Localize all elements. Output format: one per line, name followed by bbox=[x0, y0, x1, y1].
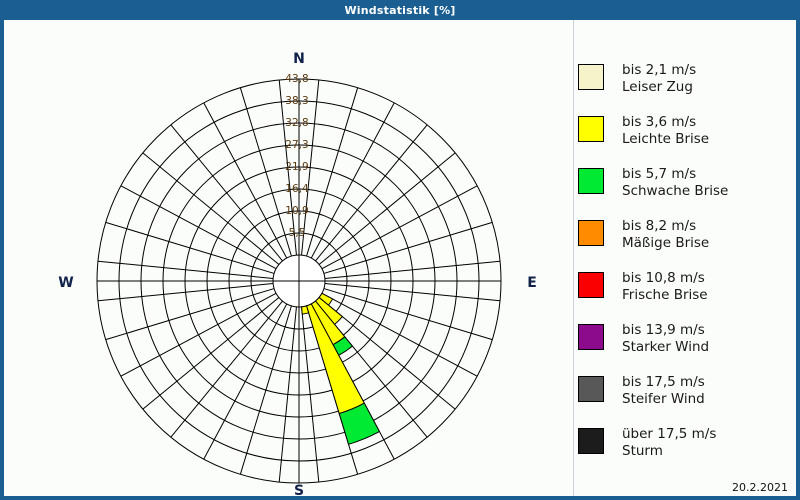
legend-label: bis 17,5 m/sSteifer Wind bbox=[622, 374, 705, 408]
legend-color-swatch bbox=[578, 168, 604, 194]
legend-item: bis 8,2 m/sMäßige Brise bbox=[578, 218, 709, 252]
compass-label-east: E bbox=[527, 275, 537, 291]
legend-speed-range: bis 3,6 m/s bbox=[622, 114, 696, 130]
windstatistik-window: Windstatistik [%] 5,510,916,421,927,332,… bbox=[0, 0, 800, 500]
legend-beaufort-name: Mäßige Brise bbox=[622, 235, 709, 252]
radial-tick-label: 10,9 bbox=[285, 205, 308, 217]
legend-label: bis 5,7 m/sSchwache Brise bbox=[622, 166, 728, 200]
legend-label: bis 8,2 m/sMäßige Brise bbox=[622, 218, 709, 252]
legend-beaufort-name: Steifer Wind bbox=[622, 391, 705, 408]
legend-speed-range: bis 2,1 m/s bbox=[622, 62, 696, 78]
legend-speed-range: über 17,5 m/s bbox=[622, 426, 716, 442]
grid-spoke bbox=[240, 88, 291, 256]
legend-item: bis 13,9 m/sStarker Wind bbox=[578, 322, 709, 356]
legend-label: über 17,5 m/sSturm bbox=[622, 426, 716, 460]
legend-item: bis 17,5 m/sSteifer Wind bbox=[578, 374, 705, 408]
legend-label: bis 13,9 m/sStarker Wind bbox=[622, 322, 709, 356]
legend-speed-range: bis 17,5 m/s bbox=[622, 374, 705, 390]
legend-beaufort-name: Sturm bbox=[622, 443, 716, 460]
legend-label: bis 10,8 m/sFrische Brise bbox=[622, 270, 708, 304]
legend-color-swatch bbox=[578, 116, 604, 142]
compass-label-west: W bbox=[58, 275, 73, 291]
legend-label: bis 3,6 m/sLeichte Brise bbox=[622, 114, 709, 148]
legend-beaufort-name: Schwache Brise bbox=[622, 183, 728, 200]
legend-item: bis 10,8 m/sFrische Brise bbox=[578, 270, 708, 304]
legend-item: bis 2,1 m/sLeiser Zug bbox=[578, 62, 696, 96]
legend-speed-range: bis 10,8 m/s bbox=[622, 270, 705, 286]
windrose-chart: 5,510,916,421,927,332,838,343,8 N S W E bbox=[4, 20, 564, 496]
radial-tick-label: 38,3 bbox=[285, 95, 308, 107]
compass-label-south: S bbox=[294, 483, 304, 496]
legend-color-swatch bbox=[578, 428, 604, 454]
legend-beaufort-name: Leiser Zug bbox=[622, 79, 696, 96]
legend-color-swatch bbox=[578, 64, 604, 90]
legend-beaufort-name: Leichte Brise bbox=[622, 131, 709, 148]
radial-tick-label: 32,8 bbox=[285, 117, 308, 129]
legend-panel: bis 2,1 m/sLeiser Zugbis 3,6 m/sLeichte … bbox=[564, 20, 796, 496]
grid-spoke bbox=[106, 289, 274, 340]
legend-color-swatch bbox=[578, 220, 604, 246]
legend-color-swatch bbox=[578, 324, 604, 350]
grid-spoke bbox=[307, 88, 358, 256]
legend-item: über 17,5 m/sSturm bbox=[578, 426, 716, 460]
legend-color-swatch bbox=[578, 376, 604, 402]
grid-spoke bbox=[240, 306, 291, 474]
grid-spoke bbox=[324, 222, 492, 273]
legend-color-swatch bbox=[578, 272, 604, 298]
grid-spoke bbox=[324, 289, 492, 340]
legend-speed-range: bis 13,9 m/s bbox=[622, 322, 705, 338]
legend-beaufort-name: Frische Brise bbox=[622, 287, 708, 304]
radial-tick-label: 5,5 bbox=[289, 227, 306, 239]
radial-tick-labels: 5,510,916,421,927,332,838,343,8 bbox=[285, 73, 309, 239]
radial-tick-label: 27,3 bbox=[285, 139, 308, 151]
legend-speed-range: bis 8,2 m/s bbox=[622, 218, 696, 234]
grid-spoke bbox=[106, 222, 274, 273]
legend-beaufort-name: Starker Wind bbox=[622, 339, 709, 356]
legend-label: bis 2,1 m/sLeiser Zug bbox=[622, 62, 696, 96]
window-title: Windstatistik [%] bbox=[344, 4, 455, 17]
date-stamp: 20.2.2021 bbox=[732, 481, 788, 494]
radial-tick-label: 16,4 bbox=[285, 183, 309, 195]
legend-item: bis 3,6 m/sLeichte Brise bbox=[578, 114, 709, 148]
windrose-panel: 5,510,916,421,927,332,838,343,8 N S W E bbox=[4, 20, 564, 496]
legend-speed-range: bis 5,7 m/s bbox=[622, 166, 696, 182]
legend-item: bis 5,7 m/sSchwache Brise bbox=[578, 166, 728, 200]
radial-tick-label: 43,8 bbox=[285, 73, 308, 85]
window-titlebar: Windstatistik [%] bbox=[0, 0, 800, 20]
window-client-area: 5,510,916,421,927,332,838,343,8 N S W E … bbox=[4, 20, 796, 496]
compass-label-north: N bbox=[293, 51, 305, 67]
radial-tick-label: 21,9 bbox=[285, 161, 308, 173]
